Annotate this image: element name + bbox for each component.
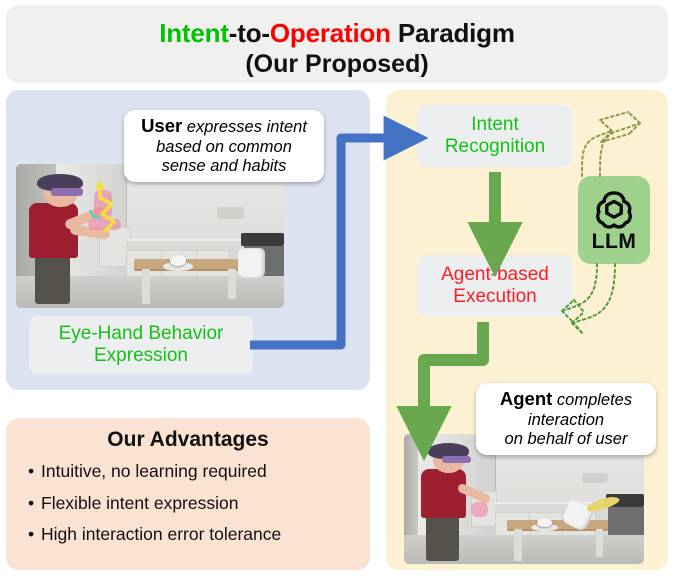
page-title: Intent-to-Operation Paradigm (6, 19, 668, 47)
advantage-text: Intuitive, no learning required (41, 461, 267, 481)
advantage-text: High interaction error tolerance (41, 524, 281, 544)
title-word-paradigm: Paradigm (391, 18, 515, 48)
intent-recognition-box: Intent Recognition (417, 105, 573, 167)
llm-label: LLM (592, 230, 637, 254)
user-callout: User expresses intent based on common se… (124, 110, 324, 182)
intent-line-2: Recognition (445, 136, 545, 157)
agent-callout: Agent completes interaction on behalf of… (476, 383, 656, 455)
advantages-title: Our Advantages (6, 428, 370, 452)
figure-root: Intent-to-Operation Paradigm (Our Propos… (0, 0, 674, 576)
gaze-path-icon (16, 164, 284, 308)
intent-line-1: Intent (471, 114, 519, 135)
list-item: •High interaction error tolerance (28, 525, 358, 545)
title-word-operation: Operation (270, 18, 391, 48)
agent-execution-box: Agent-based Execution (417, 255, 573, 317)
bullet-icon: • (28, 494, 41, 514)
advantage-text: Flexible intent expression (41, 493, 238, 513)
page-subtitle: (Our Proposed) (6, 50, 668, 79)
agent-callout-line2: interaction (528, 411, 604, 429)
agent-execution-label: Agent-based Execution (441, 264, 549, 309)
title-separator: -to- (229, 18, 270, 48)
agent-callout-line3: on behalf of user (505, 430, 628, 448)
title-word-intent: Intent (159, 18, 229, 48)
execution-line-2: Execution (453, 286, 536, 307)
agent-callout-line1: completes (552, 391, 632, 409)
bullet-icon: • (28, 462, 41, 482)
execution-line-1: Agent-based (441, 264, 549, 285)
user-callout-bold: User (141, 115, 182, 136)
figure-header: Intent-to-Operation Paradigm (Our Propos… (6, 5, 668, 83)
list-item: •Flexible intent expression (28, 494, 358, 514)
agent-callout-bold: Agent (500, 388, 552, 409)
advantages-panel: Our Advantages •Intuitive, no learning r… (6, 418, 370, 570)
openai-logo-icon (593, 187, 635, 229)
bullet-icon: • (28, 525, 41, 545)
user-behavior-scene (16, 164, 284, 308)
advantages-list: •Intuitive, no learning required •Flexib… (28, 462, 358, 557)
eye-hand-behavior-box: Eye-Hand Behavior Expression (29, 316, 253, 374)
intent-recognition-label: Intent Recognition (445, 114, 545, 159)
llm-badge[interactable]: LLM (578, 176, 650, 264)
list-item: •Intuitive, no learning required (28, 462, 358, 482)
eye-hand-behavior-label: Eye-Hand Behavior Expression (29, 323, 253, 368)
